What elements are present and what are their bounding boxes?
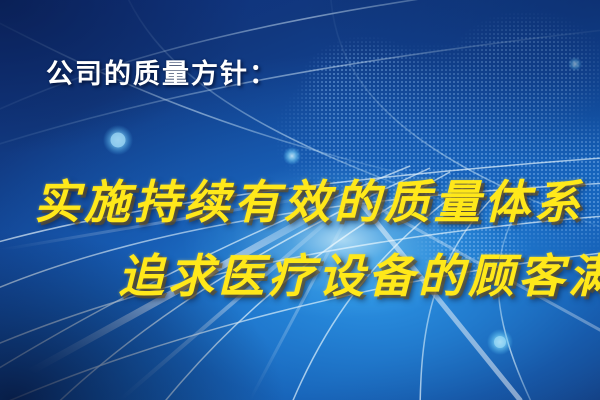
quality-policy-banner: 公司的质量方针： 实施持续有效的质量体系 追求医疗设备的顾客满意 xyxy=(0,0,600,400)
policy-line-1: 实施持续有效的质量体系 xyxy=(34,166,584,232)
page-title: 公司的质量方针： xyxy=(46,52,278,91)
policy-line-2: 追求医疗设备的顾客满意 xyxy=(118,240,600,306)
